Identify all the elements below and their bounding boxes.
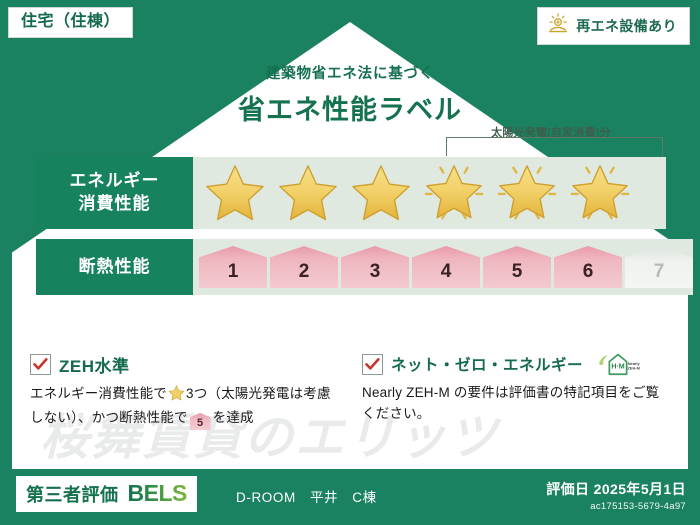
svg-text:ZEH-M: ZEH-M: [628, 366, 640, 371]
energy-performance-label: 住宅（住棟） 再エネ設備あり 建築物省エネ法に基づく 省エネ性能ラベル: [0, 0, 700, 525]
zeh-standard-title: ZEH水準: [59, 352, 130, 377]
insulation-label-text: 断熱性能: [79, 256, 151, 279]
check-icon: [362, 354, 383, 375]
insulation-badge-3: 3: [341, 246, 409, 288]
category-tab: 住宅（住棟）: [8, 7, 133, 38]
energy-consumption-row: エネルギー 消費性能 太陽光発電(自家消費)分: [36, 157, 666, 229]
insulation-badge-4: 4: [412, 246, 480, 288]
energy-label-line2: 消費性能: [79, 193, 151, 216]
net-zero-body: Nearly ZEH-M の要件は評価書の特記項目をご覧ください。: [362, 383, 670, 425]
star-3: [345, 157, 417, 229]
svg-text:H·M: H·M: [611, 364, 624, 371]
star-sparkle-icon: [492, 159, 562, 227]
zeh-standard-note: ZEH水準 エネルギー消費性能で3つ（太陽光発電は考慮しない）、かつ断熱性能で5…: [30, 352, 338, 430]
footer-bar: 第三者評価 BELS D-ROOM 平井 C棟 評価日 2025年5月1日 ac…: [0, 469, 700, 525]
net-zero-title: ネット・ゼロ・エネルギー: [391, 353, 583, 375]
insulation-label: 断熱性能: [36, 239, 193, 295]
star-2: [272, 157, 344, 229]
renewable-badge-label: 再エネ設備あり: [576, 16, 677, 36]
inline-star-icon: [168, 385, 185, 408]
star-sparkle-icon: [419, 159, 489, 227]
insulation-badge-1: 1: [199, 246, 267, 288]
energy-label-line1: エネルギー: [70, 170, 160, 193]
check-icon: [30, 354, 51, 375]
energy-star-rating: [193, 157, 636, 229]
insulation-badge-5: 5: [483, 246, 551, 288]
insulation-badge-7: 7: [625, 246, 693, 288]
net-zero-heading: ネット・ゼロ・エネルギー H·M Nearly ZEH-M: [362, 352, 670, 376]
label-subtitle: 建築物省エネ法に基づく: [0, 62, 700, 83]
building-name: D-ROOM 平井 C棟: [236, 486, 377, 506]
insulation-badge-6: 6: [554, 246, 622, 288]
energy-consumption-label: エネルギー 消費性能: [36, 157, 193, 229]
bels-logo: BELS: [128, 480, 187, 507]
evaluation-date: 評価日 2025年5月1日: [546, 479, 686, 499]
star-6-solar: [564, 157, 636, 229]
inline-insulation-badge-icon: 5: [190, 413, 211, 430]
energy-consumption-value: 太陽光発電(自家消費)分: [193, 157, 666, 229]
star-icon: [350, 163, 412, 223]
solar-sun-icon: [547, 12, 569, 39]
zeh-body-part3: を達成: [213, 410, 254, 425]
star-sparkle-icon: [565, 159, 635, 227]
insulation-grade-scale: 1 2 3 4 5: [193, 246, 693, 288]
bels-plate: 第三者評価 BELS: [16, 476, 197, 512]
evaluation-info: 評価日 2025年5月1日 ac175153-5679-4a97: [546, 479, 686, 512]
zeh-body-part1: エネルギー消費性能で: [30, 386, 167, 401]
page-title: 省エネ性能ラベル: [0, 88, 700, 127]
renewable-equipment-badge: 再エネ設備あり: [537, 7, 690, 45]
insulation-badge-2: 2: [270, 246, 338, 288]
star-4-solar: [418, 157, 490, 229]
third-party-eval-label: 第三者評価: [26, 481, 119, 507]
insulation-value: 1 2 3 4 5: [193, 239, 693, 295]
star-icon: [204, 163, 266, 223]
star-1: [199, 157, 271, 229]
insulation-row: 断熱性能 1 2 3: [36, 239, 666, 295]
zeh-standard-body: エネルギー消費性能で3つ（太陽光発電は考慮しない）、かつ断熱性能で5を達成: [30, 384, 338, 430]
star-icon: [277, 163, 339, 223]
star-5-solar: [491, 157, 563, 229]
evaluation-id: ac175153-5679-4a97: [546, 501, 686, 512]
notes-section: ZEH水準 エネルギー消費性能で3つ（太陽光発電は考慮しない）、かつ断熱性能で5…: [30, 352, 670, 430]
nearly-zeh-m-logo: H·M Nearly ZEH-M: [596, 352, 640, 376]
solar-portion-bracket: [446, 137, 663, 156]
net-zero-energy-note: ネット・ゼロ・エネルギー H·M Nearly ZEH-M Nearly ZEH…: [362, 352, 670, 430]
category-tab-label: 住宅（住棟）: [21, 13, 120, 30]
performance-rows: エネルギー 消費性能 太陽光発電(自家消費)分: [36, 157, 666, 305]
zeh-standard-heading: ZEH水準: [30, 352, 338, 377]
title-block: 建築物省エネ法に基づく 省エネ性能ラベル: [0, 62, 700, 127]
